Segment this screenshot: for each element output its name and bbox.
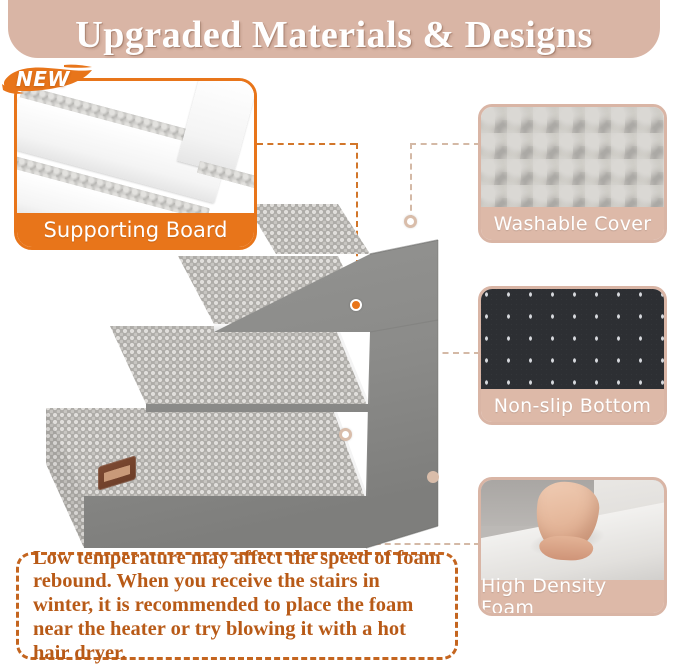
panel-high-density-foam[interactable]: High Density Foam <box>478 477 667 616</box>
infographic-root: Upgraded Materials & Designs <box>0 0 679 671</box>
dotted-rubber-icon <box>481 289 664 389</box>
warning-note-text: Low temperature may affect the speed of … <box>33 547 441 666</box>
panel-washable-cover[interactable]: Washable Cover <box>478 104 667 243</box>
supporting-board-label: Supporting Board <box>15 213 256 247</box>
warning-note-box: Low temperature may affect the speed of … <box>16 552 458 660</box>
connector-supporting-board-h <box>257 143 356 145</box>
washable-cover-label: Washable Cover <box>481 207 664 240</box>
callout-dot-washable-cover <box>404 215 417 228</box>
nonslip-bottom-label: Non-slip Bottom <box>481 389 664 422</box>
nonslip-bottom-image <box>481 289 664 389</box>
product-illustration <box>18 196 468 556</box>
supporting-board-image <box>17 81 254 213</box>
callout-dot-high-density-foam <box>339 428 352 441</box>
connector-washable-cover-h <box>410 143 480 145</box>
new-badge-label: NEW <box>16 67 70 91</box>
stairs-shape <box>18 196 468 556</box>
washable-cover-image <box>481 107 664 207</box>
hand-shape <box>532 480 602 556</box>
callout-dot-supporting-board <box>350 299 362 311</box>
paw-print-icon <box>104 465 130 482</box>
panel-supporting-board[interactable]: Supporting Board <box>14 78 257 250</box>
hand-press-icon <box>481 480 664 580</box>
fabric-texture-icon <box>481 107 664 207</box>
new-badge: NEW <box>2 62 94 98</box>
board-side <box>177 81 254 176</box>
high-density-foam-label: High Density Foam <box>481 580 664 613</box>
panel-nonslip-bottom[interactable]: Non-slip Bottom <box>478 286 667 425</box>
header-banner: Upgraded Materials & Designs <box>8 0 660 58</box>
page-title: Upgraded Materials & Designs <box>75 16 592 54</box>
high-density-foam-image <box>481 480 664 580</box>
callout-dot-nonslip-bottom <box>427 471 439 483</box>
